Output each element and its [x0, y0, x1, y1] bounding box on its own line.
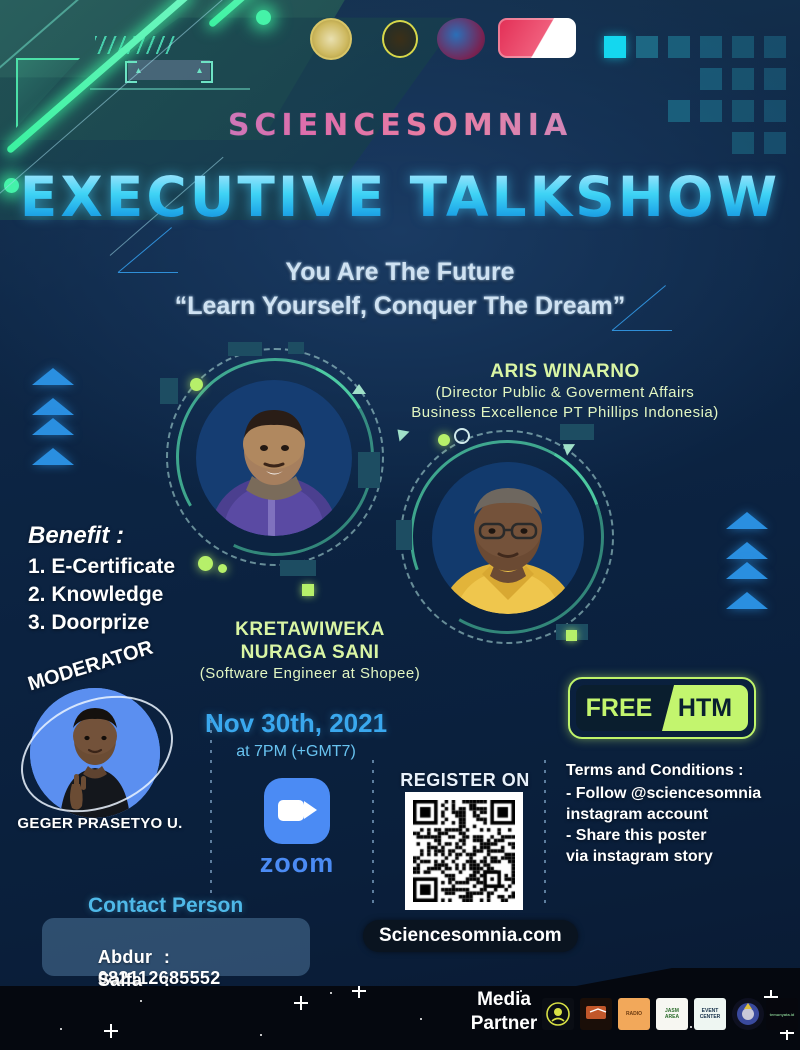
- moderator-avatar: [30, 688, 160, 818]
- website-badge[interactable]: Sciencesomnia.com: [363, 920, 578, 952]
- speaker-1-portrait-icon: [196, 380, 352, 536]
- star-sparkle-icon: [110, 1024, 112, 1038]
- terms-item: via instagram story: [566, 846, 796, 867]
- chevron-up-icon: [726, 512, 768, 529]
- contact-box: Abdur: 082112685552 Salfa: 085706005105: [42, 918, 310, 976]
- price-amount-label: HTM: [662, 685, 748, 731]
- speaker-2-tick: [396, 520, 412, 550]
- benefit-section: Benefit : 1. E-Certificate 2. Knowledge …: [28, 522, 175, 637]
- speaker-1-tick: [358, 452, 380, 488]
- moderator-portrait-icon: [30, 688, 160, 818]
- media-partner-label: Media Partner: [456, 988, 552, 1036]
- speaker-1-orbit-dot: [218, 564, 227, 573]
- platform-name: zoom: [252, 848, 342, 879]
- speaker-1-tick: [160, 378, 178, 404]
- schedule-block: Nov 30th, 2021 at 7PM (+GMT7): [196, 708, 396, 761]
- price-free-label: FREE: [576, 685, 662, 731]
- speaker-2-role-line-1: (Director Public & Goverment Affairs: [400, 383, 730, 403]
- zoom-camera-lens: [304, 801, 317, 819]
- qr-code-canvas[interactable]: [413, 800, 515, 902]
- register-label: REGISTER ON: [380, 770, 550, 791]
- zoom-camera-body: [278, 800, 304, 821]
- speaker-1-name-line-2: NURAGA SANI: [150, 641, 470, 664]
- chevron-up-icon: [726, 562, 768, 579]
- decor-grid-square: [764, 36, 786, 58]
- speaker-2-portrait-icon: [432, 462, 584, 614]
- terms-section: Terms and Conditions : - Follow @science…: [566, 760, 796, 867]
- speaker-2-tick: [560, 424, 594, 440]
- speaker-1-role: (Software Engineer at Shopee): [150, 664, 470, 684]
- decor-accent-line: [612, 330, 672, 331]
- speaker-2-orbit-ring: [454, 428, 470, 444]
- decor-grid-square: [764, 68, 786, 90]
- decor-grid-square: [700, 68, 722, 90]
- top-logo-faculty-icon: [382, 20, 418, 58]
- terms-item: instagram account: [566, 804, 796, 825]
- decor-accent-line: [118, 272, 178, 273]
- speaker-1-tick: [228, 342, 262, 356]
- price-badge-inner: FREE HTM: [576, 685, 748, 731]
- terms-item: - Follow @sciencesomnia: [566, 783, 796, 804]
- speaker-1-orbit-dot: [198, 556, 213, 571]
- event-time: at 7PM (+GMT7): [196, 743, 396, 761]
- decor-grid-square: [604, 36, 626, 58]
- decor-grid-square: [700, 36, 722, 58]
- star-sparkle-icon: [358, 984, 360, 998]
- contact-title: Contact Person: [88, 894, 243, 918]
- brand-title: SCIENCESOMNIA: [0, 108, 800, 143]
- platform-block: zoom: [252, 778, 342, 879]
- speaker-2-orbit-dot: [438, 434, 450, 446]
- decor-grid-square: [668, 36, 690, 58]
- decor-dotted-divider: [372, 760, 374, 910]
- media-partner-label-line-2: Partner: [456, 1012, 552, 1036]
- speaker-1-orbit-triangle: [352, 384, 366, 394]
- speaker-2-role-line-2: Business Excellence PT Phillips Indonesi…: [400, 403, 730, 423]
- decor-grid-square: [636, 36, 658, 58]
- neon-dot-upper: [256, 10, 271, 25]
- speaker-1-name: KRETAWIWEKA NURAGA SANI (Software Engine…: [150, 618, 470, 684]
- decor-grid-square: [732, 68, 754, 90]
- chevron-up-icon: [32, 448, 74, 465]
- chevron-up-icon: [32, 368, 74, 385]
- chevron-up-icon: [32, 418, 74, 435]
- partner-logo-2: [580, 998, 612, 1030]
- partner-logo-3: RADIO: [618, 998, 650, 1030]
- decor-horiz-line: [90, 88, 250, 90]
- speaker-2-avatar: [432, 462, 584, 614]
- chevron-up-icon: [32, 398, 74, 415]
- benefit-item: 3. Doorprize: [28, 609, 175, 637]
- partner-logo-event-center: EVENTCENTER: [694, 998, 726, 1030]
- partner-logo-temu-nyata: temunyata.id: [766, 998, 798, 1030]
- top-logo-gita-buana-icon: [437, 18, 485, 60]
- zoom-camera-icon: [264, 778, 330, 844]
- partner-logo-6: [732, 998, 764, 1030]
- benefit-item: 1. E-Certificate: [28, 553, 175, 581]
- chevron-up-icon: [726, 592, 768, 609]
- chevron-up-icon: [726, 542, 768, 559]
- partner-logo-4: JASMAREA: [656, 998, 688, 1030]
- speaker-1-orbit-dot: [190, 378, 203, 391]
- event-date: Nov 30th, 2021: [196, 708, 396, 739]
- terms-title: Terms and Conditions :: [566, 760, 796, 781]
- poster-canvas: SCIENCESOMNIA EXECUTIVE TALKSHOW You Are…: [0, 0, 800, 1050]
- qr-code[interactable]: [405, 792, 523, 910]
- speaker-2-name-line-1: ARIS WINARNO: [400, 360, 730, 383]
- terms-item: - Share this poster: [566, 825, 796, 846]
- top-logo-sciencesomnia-icon: [498, 18, 576, 58]
- decor-grid-square: [732, 36, 754, 58]
- page-title: EXECUTIVE TALKSHOW: [0, 165, 800, 229]
- speaker-1-avatar: [196, 380, 352, 536]
- speaker-1-tick: [288, 342, 304, 354]
- speaker-1-tick: [280, 560, 316, 576]
- top-logo-univ-icon: [310, 18, 352, 60]
- speaker-2-orbit-square: [566, 630, 577, 641]
- benefit-title: Benefit :: [28, 522, 175, 550]
- decor-bracket-dot-right: [197, 68, 202, 73]
- speaker-2-name: ARIS WINARNO (Director Public & Govermen…: [400, 360, 730, 423]
- star-sparkle-icon: [300, 996, 302, 1010]
- partner-logo-1: [542, 998, 574, 1030]
- tagline: You Are The Future “Learn Yourself, Conq…: [0, 255, 800, 323]
- speaker-1-name-line-1: KRETAWIWEKA: [150, 618, 470, 641]
- tagline-line-2: “Learn Yourself, Conquer The Dream”: [0, 289, 800, 323]
- moderator-name: GEGER PRASETYO U.: [0, 815, 200, 832]
- price-badge: FREE HTM: [568, 677, 756, 739]
- speaker-1-orbit-triangle: [393, 425, 410, 442]
- media-partner-label-line-1: Media: [456, 988, 552, 1012]
- benefit-item: 2. Knowledge: [28, 581, 175, 609]
- speaker-1-orbit-square: [302, 584, 314, 596]
